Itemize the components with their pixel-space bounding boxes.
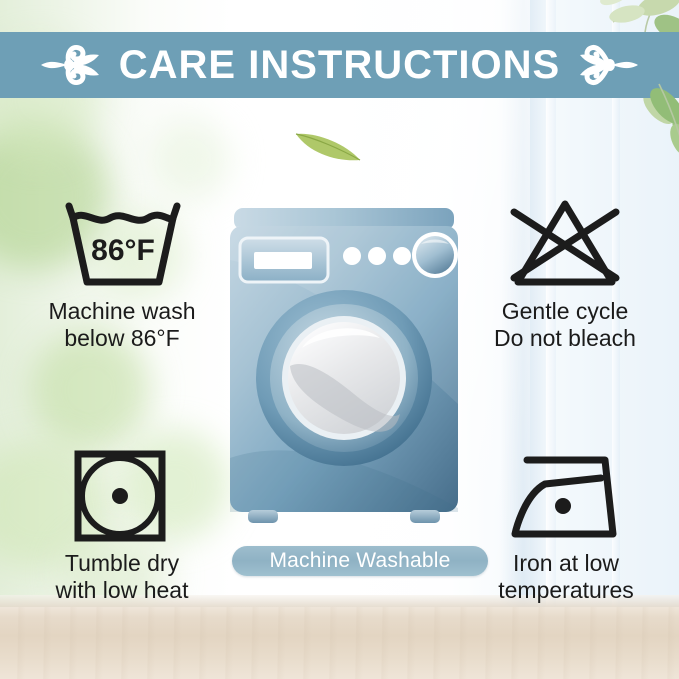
caption-line: Do not bleach: [494, 325, 636, 352]
care-symbol-tumble-dry: Tumble dry with low heat: [22, 448, 222, 603]
washing-machine-illustration: [228, 208, 460, 538]
caption-line: below 86°F: [48, 325, 195, 352]
drawer-slot: [254, 252, 312, 269]
iron-low-icon: [501, 448, 631, 544]
care-symbol-no-bleach: Gentle cycle Do not bleach: [460, 196, 670, 351]
care-instructions-graphic: CARE INSTRUCTIONS 86°F: [0, 0, 679, 679]
wash-temperature-label: 86°F: [91, 234, 155, 267]
caption-iron: Iron at low temperatures: [498, 550, 634, 603]
caption-line: temperatures: [498, 577, 634, 604]
background-bokeh: [150, 120, 230, 200]
tumble-dry-low-icon: [66, 448, 178, 544]
caption-no-bleach: Gentle cycle Do not bleach: [494, 298, 636, 351]
table-wood-grain: [0, 607, 679, 679]
machine-button[interactable]: [368, 247, 386, 265]
fleur-de-lis-icon: [578, 43, 640, 87]
caption-tumble-dry: Tumble dry with low heat: [56, 550, 189, 603]
machine-button[interactable]: [343, 247, 361, 265]
machine-foot: [248, 510, 278, 523]
fleur-de-lis-icon: [39, 43, 101, 87]
caption-line: Gentle cycle: [494, 298, 636, 325]
caption-line: Iron at low: [498, 550, 634, 577]
leaf-icon: [292, 122, 364, 164]
machine-foot: [410, 510, 440, 523]
caption-line: Tumble dry: [56, 550, 189, 577]
caption-machine-wash: Machine wash below 86°F: [48, 298, 195, 351]
machine-button[interactable]: [393, 247, 411, 265]
page-title: CARE INSTRUCTIONS: [119, 45, 560, 85]
wash-basin-icon: 86°F: [57, 196, 187, 292]
header-banner: CARE INSTRUCTIONS: [0, 32, 679, 98]
triangle-crossed-out-icon: [500, 196, 630, 292]
caption-line: Machine wash: [48, 298, 195, 325]
care-symbol-iron: Iron at low temperatures: [462, 448, 670, 603]
caption-line: with low heat: [56, 577, 189, 604]
machine-washable-badge: Machine Washable: [232, 546, 488, 576]
badge-label: Machine Washable: [269, 549, 450, 573]
care-symbol-machine-wash: 86°F Machine wash below 86°F: [22, 196, 222, 351]
